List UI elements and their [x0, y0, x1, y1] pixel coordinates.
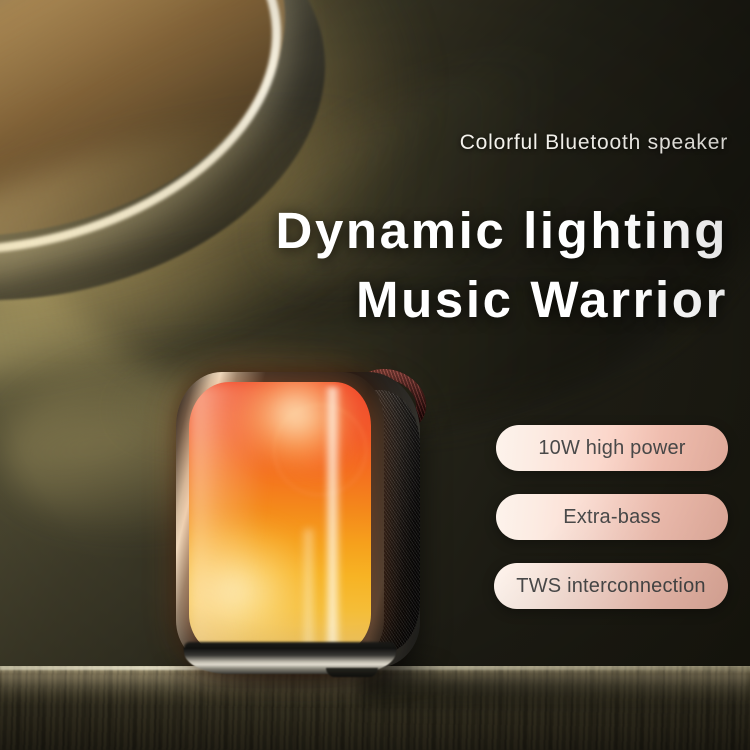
speaker-foot	[326, 668, 378, 677]
ad-headline: Dynamic lighting Music Warrior	[276, 196, 728, 334]
headline-line-2: Music Warrior	[276, 265, 728, 334]
feature-pill-bass[interactable]: Extra-bass	[496, 494, 728, 540]
headline-line-1: Dynamic lighting	[276, 196, 728, 265]
rgb-light-panel	[189, 382, 371, 654]
portable-bluetooth-speaker	[176, 366, 426, 682]
panel-left-wash	[189, 382, 269, 654]
product-advertisement-banner: Colorful Bluetooth speaker Dynamic light…	[0, 0, 750, 750]
feature-pill-list: 10W high power Extra-bass TWS interconne…	[494, 425, 728, 609]
feature-pill-tws[interactable]: TWS interconnection	[494, 563, 728, 609]
panel-secondary-highlight	[302, 529, 315, 649]
feature-pill-power[interactable]: 10W high power	[496, 425, 728, 471]
ad-subtitle: Colorful Bluetooth speaker	[460, 131, 728, 155]
panel-specular-highlight	[324, 387, 342, 648]
